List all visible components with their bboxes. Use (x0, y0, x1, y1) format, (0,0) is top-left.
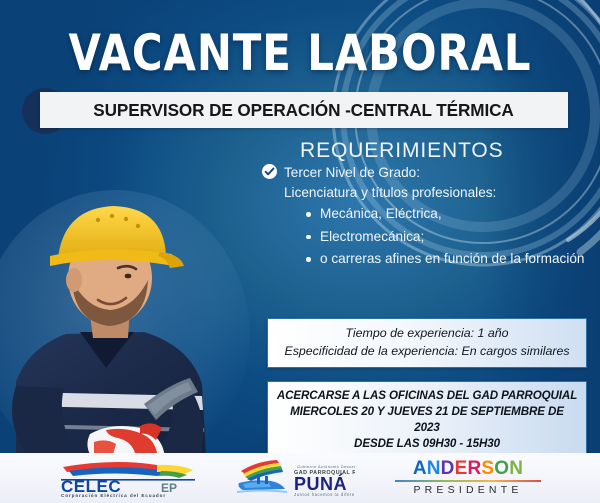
anderson-logo-subtitle: PRESIDENTE (389, 484, 547, 496)
page-title: VACANTE LABORAL (21, 27, 579, 79)
experience-specificity: Especificidad de la experiencia: En carg… (278, 343, 576, 361)
anderson-presidente-logo: ANDERSON PRESIDENTE (389, 459, 547, 497)
position-title-bar: SUPERVISOR DE OPERACIÓN -CENTRAL TÉRMICA (40, 92, 568, 128)
list-item: Electromecánica; (306, 228, 598, 247)
anderson-logo-divider (395, 480, 541, 482)
requirement-degree-bullets: Mecánica, Eléctrica, Electromecánica; o … (306, 205, 598, 269)
puna-logo-tagline: Juntos hacemos la diferencia (294, 492, 355, 497)
experience-info-box: Tiempo de experiencia: 1 año Especificid… (267, 318, 587, 368)
footer-logo-strip: CELEC EP Corporación Eléctrica del Ecuad… (0, 453, 600, 503)
list-item: o carreras afines en función de la forma… (306, 250, 598, 269)
puna-logo-eyebrow-small: Gobierno Autónomo Descentralizado (297, 465, 355, 469)
celec-logo-tagline: Corporación Eléctrica del Ecuador (61, 493, 166, 498)
requirements-heading: REQUERIMIENTOS (300, 139, 504, 163)
application-dates: MIERCOLES 20 Y JUEVES 21 DE SEPTIEMBRE D… (276, 404, 578, 436)
requirement-line-2: Licenciatura y títulos profesionales: (284, 183, 598, 202)
position-title-text: SUPERVISOR DE OPERACIÓN -CENTRAL TÉRMICA (94, 100, 514, 121)
puna-gad-logo: Gobierno Autónomo Descentralizado GAD PA… (237, 457, 355, 499)
celec-ep-logo: CELEC EP Corporación Eléctrica del Ecuad… (53, 458, 203, 498)
requirement-line-1: Tercer Nivel de Grado: (284, 163, 420, 182)
application-details-box: ACERCARSE A LAS OFICINAS DEL GAD PARROQU… (267, 381, 587, 460)
requirements-list: Tercer Nivel de Grado: Licenciatura y tí… (262, 163, 598, 273)
worker-with-hardhat-photo (0, 196, 262, 458)
application-hours: DESDE LAS 09H30 - 15H30 (276, 436, 578, 452)
job-vacancy-poster: VACANTE LABORAL SUPERVISOR DE OPERACIÓN … (0, 0, 600, 503)
puna-logo-main: PUNÁ (294, 473, 347, 494)
anderson-logo-main: ANDERSON (389, 459, 547, 479)
list-item: Mecánica, Eléctrica, (306, 205, 598, 224)
experience-time: Tiempo de experiencia: 1 año (278, 325, 576, 343)
application-location: ACERCARSE A LAS OFICINAS DEL GAD PARROQU… (276, 388, 578, 404)
requirement-primary-row: Tercer Nivel de Grado: (262, 163, 598, 182)
check-circle-icon (262, 164, 277, 179)
